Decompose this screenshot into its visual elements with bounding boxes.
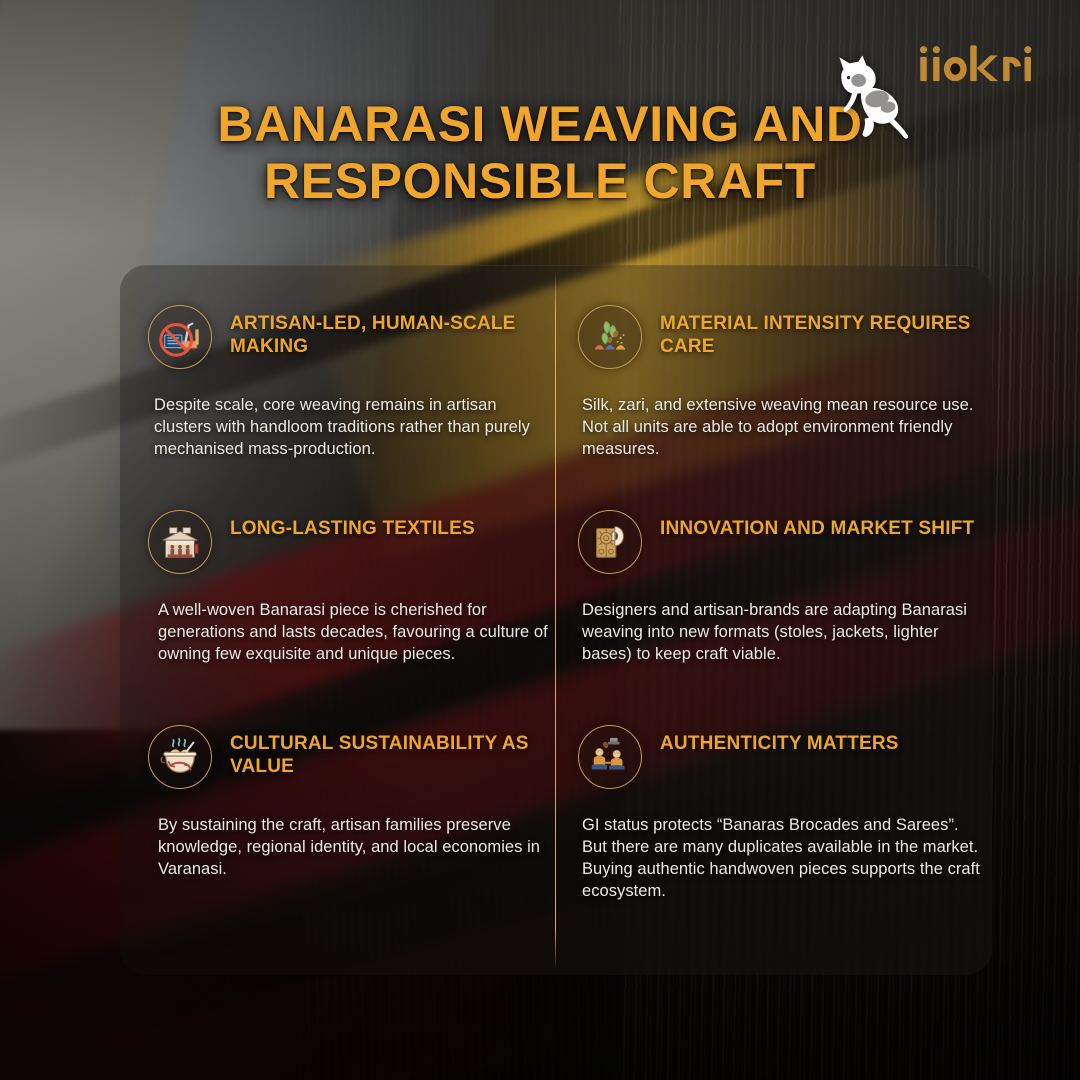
card-authenticity-matters: AUTHENTICITY MATTERS GI status protects … — [578, 725, 988, 903]
card-title: LONG-LASTING TEXTILES — [230, 510, 475, 540]
page-title: BANARASI WEAVING AND RESPONSIBLE CRAFT — [0, 96, 1080, 210]
two-seated-artisans-icon — [578, 725, 642, 789]
card-title: CULTURAL SUSTAINABILITY AS VALUE — [230, 725, 558, 778]
card-body: GI status protects “Banaras Brocades and… — [578, 815, 988, 903]
cat-mascot-icon — [820, 54, 912, 140]
card-body: Designers and artisan-brands are adaptin… — [578, 600, 988, 666]
itokri-logo — [916, 38, 1036, 90]
natural-dye-leaves-icon — [578, 305, 642, 369]
card-title: MATERIAL INTENSITY REQUIRES CARE — [660, 305, 988, 358]
hand-holding-fabric-icon — [578, 510, 642, 574]
header: BANARASI WEAVING AND RESPONSIBLE CRAFT — [0, 0, 1080, 250]
card-title: AUTHENTICITY MATTERS — [660, 725, 899, 755]
card-body: Silk, zari, and extensive weaving mean r… — [578, 395, 988, 461]
cards-grid: ARTISAN-LED, HUMAN-SCALE MAKING Despite … — [120, 265, 992, 975]
title-line-2: RESPONSIBLE CRAFT — [120, 153, 960, 210]
artisan-workshop-shop-icon — [148, 510, 212, 574]
card-innovation-market-shift: INNOVATION AND MARKET SHIFT Designers an… — [578, 510, 988, 666]
title-line-1: BANARASI WEAVING AND — [217, 96, 862, 152]
steaming-dye-pot-icon — [148, 725, 212, 789]
no-machine-icon — [148, 305, 212, 369]
card-long-lasting-textiles: LONG-LASTING TEXTILES A well-woven Banar… — [148, 510, 558, 666]
card-cultural-sustainability: CULTURAL SUSTAINABILITY AS VALUE By sust… — [148, 725, 558, 881]
card-title: INNOVATION AND MARKET SHIFT — [660, 510, 974, 540]
card-title: ARTISAN-LED, HUMAN-SCALE MAKING — [230, 305, 558, 358]
card-body: By sustaining the craft, artisan familie… — [148, 815, 558, 881]
card-body: Despite scale, core weaving remains in a… — [148, 395, 558, 461]
card-artisan-led: ARTISAN-LED, HUMAN-SCALE MAKING Despite … — [148, 305, 558, 461]
card-body: A well-woven Banarasi piece is cherished… — [148, 600, 558, 666]
infographic-poster: BANARASI WEAVING AND RESPONSIBLE CRAFT — [0, 0, 1080, 1080]
card-material-intensity: MATERIAL INTENSITY REQUIRES CARE Silk, z… — [578, 305, 988, 461]
